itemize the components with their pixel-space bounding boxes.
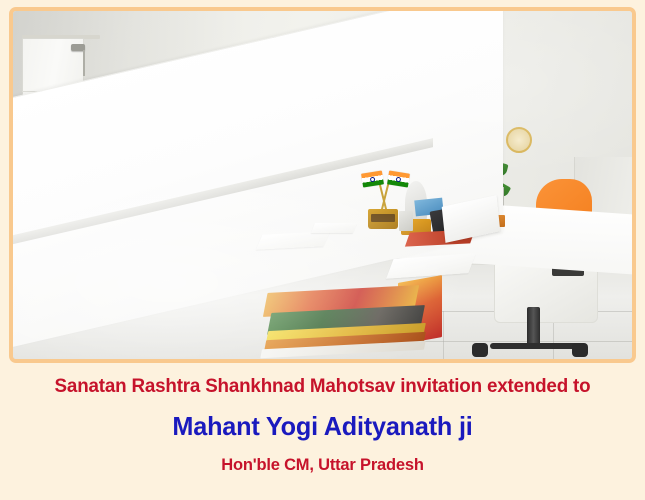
- announcement-card: Sanatan Rashtra Shankhnad Mahotsav invit…: [0, 0, 645, 500]
- caption-line-2-name: Mahant Yogi Adityanath ji: [10, 411, 636, 442]
- ashoka-chakra-icon: [370, 176, 376, 182]
- door-closer-arm: [83, 50, 85, 76]
- meeting-photo: [13, 11, 632, 359]
- caption-block: Sanatan Rashtra Shankhnad Mahotsav invit…: [0, 365, 645, 500]
- chair-caster: [472, 343, 488, 357]
- paper-sheet: [311, 223, 357, 233]
- pen-holder: [399, 211, 413, 231]
- caption-line-3-designation: Hon'ble CM, Uttar Pradesh: [10, 455, 636, 475]
- wall-plaque: [506, 127, 532, 153]
- caption-line-1: Sanatan Rashtra Shankhnad Mahotsav invit…: [11, 375, 633, 398]
- chair-leg: [490, 343, 580, 349]
- chair-caster: [572, 343, 588, 357]
- flag-stand-plate: [371, 214, 395, 222]
- floor-tile-line: [443, 311, 444, 359]
- photo-frame: [9, 7, 636, 363]
- book-stack: [266, 289, 436, 353]
- chair-gas-post: [527, 307, 540, 347]
- ashoka-chakra-icon: [396, 176, 402, 182]
